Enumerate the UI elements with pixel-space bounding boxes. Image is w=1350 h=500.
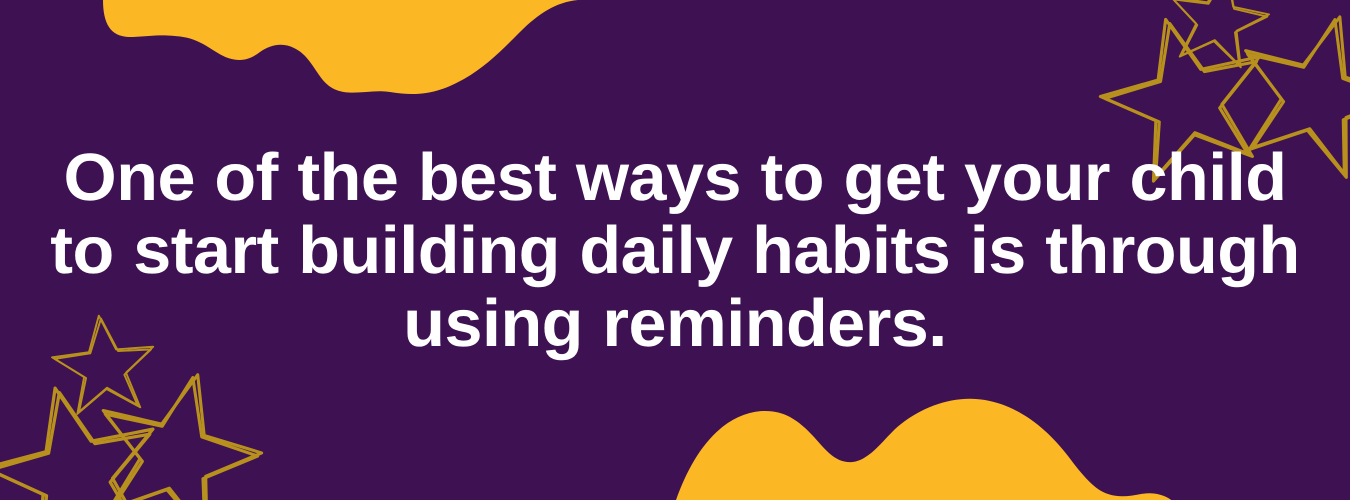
quote-graphic-canvas: One of the best ways to get your child t… xyxy=(0,0,1350,500)
decorative-background xyxy=(0,0,1350,500)
